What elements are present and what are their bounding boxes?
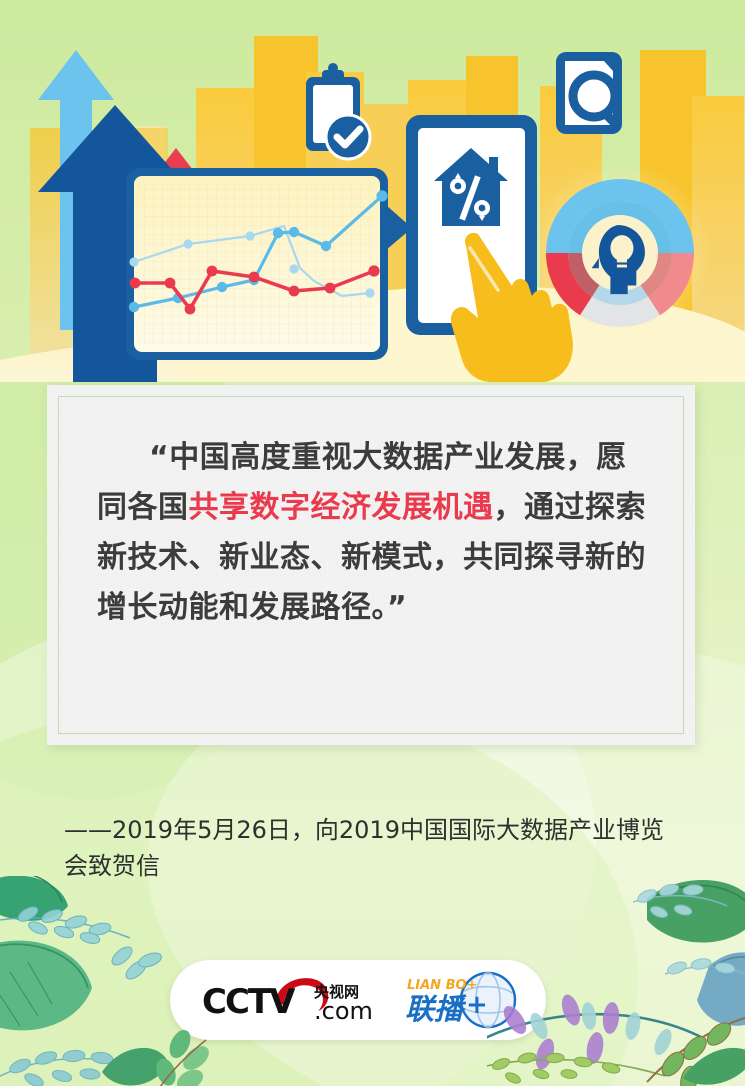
illustration-svg [0,0,745,382]
lianbo-plus-sign: + [466,990,488,1020]
lianbo-plus-logo: LIAN BO+ 联播 + [404,969,524,1031]
poster-root: “中国高度重视大数据产业发展，愿同各国共享数字经济发展机遇，通过探索新技术、新业… [0,0,745,1086]
lianbo-cn-text: 联播 [405,992,467,1026]
quote-text: “中国高度重视大数据产业发展，愿同各国共享数字经济发展机遇，通过探索新技术、新业… [97,433,653,633]
hero-illustration [0,0,745,382]
quote-card: “中国高度重视大数据产业发展，愿同各国共享数字经济发展机遇，通过探索新技术、新业… [47,385,695,745]
cctv-logo-svg: CCTV 央视网 .com [202,973,382,1027]
quote-segment-highlight: 共享数字经济发展机遇 [189,490,494,525]
lianbo-logo-svg: LIAN BO+ 联播 + [404,969,524,1031]
cctv-domain: .com [314,997,373,1025]
line-chart-card [126,168,388,360]
attribution-text: ——2019年5月26日，向2019中国国际大数据产业博览会致贺信 [64,812,664,884]
donut-chart-icon [546,179,694,327]
cctv-wordmark: CCTV [202,982,296,1022]
cctv-logo: CCTV 央视网 .com [202,973,382,1027]
footer-logo-pill: CCTV 央视网 .com LIAN BO+ 联播 + [170,960,546,1040]
document-search-icon [556,52,622,134]
